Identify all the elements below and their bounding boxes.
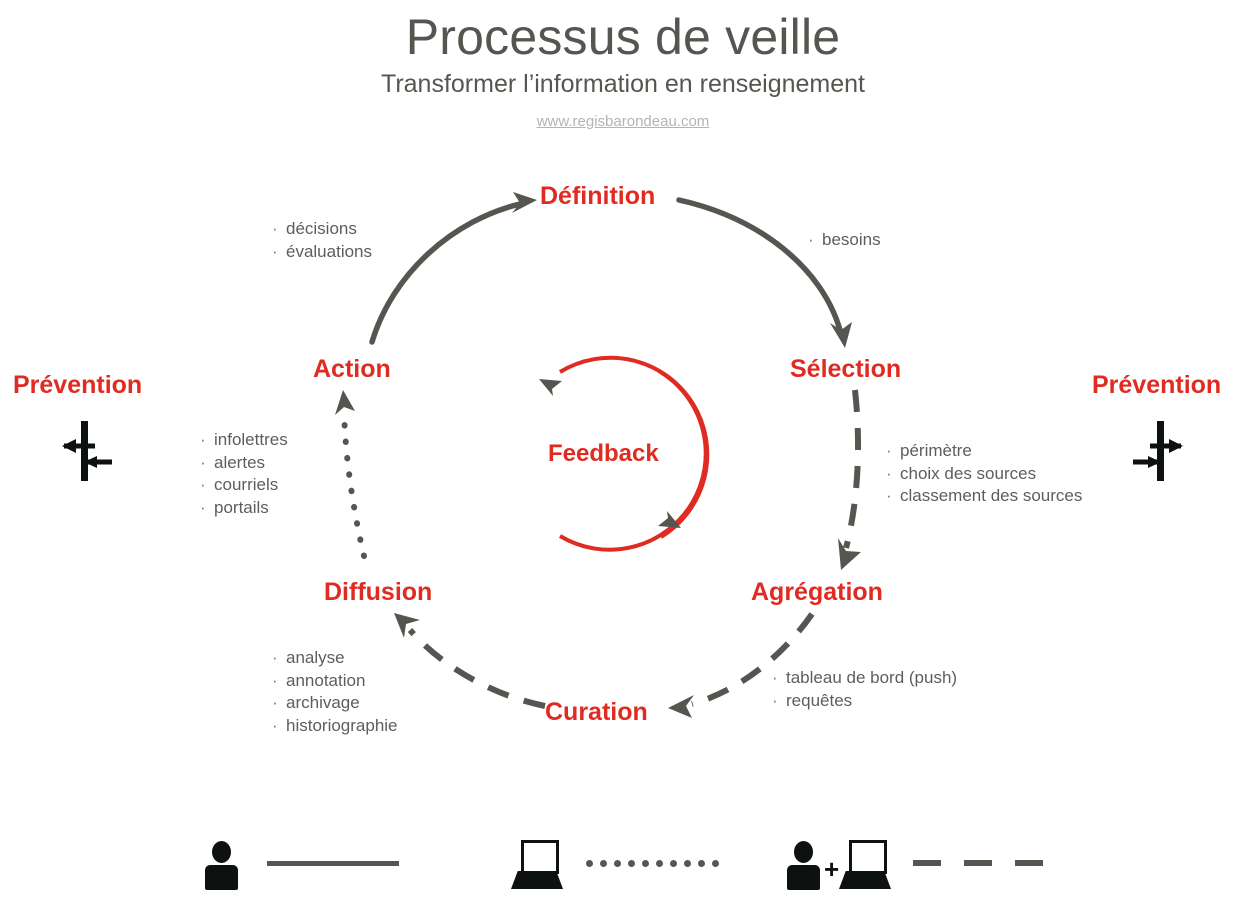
page-subtitle: Transformer l’information en renseigneme… xyxy=(0,69,1246,99)
legend-line-dashed xyxy=(913,860,1033,866)
bullet-text: analyse xyxy=(286,648,345,667)
prevention-left-icon xyxy=(62,421,112,481)
bullet-text: décisions xyxy=(286,219,357,238)
bullet-dot: · xyxy=(272,715,286,738)
bullet-text: alertes xyxy=(214,453,265,472)
bullet-dot: · xyxy=(272,647,286,670)
bullet-dot: · xyxy=(200,474,214,497)
legend-line-solid xyxy=(267,861,399,866)
bullet-text: annotation xyxy=(286,671,365,690)
stage-label-agregation[interactable]: Agrégation xyxy=(751,580,883,605)
bullet-text: courriels xyxy=(214,475,278,494)
site-url-link[interactable]: www.regisbarondeau.com xyxy=(537,113,710,130)
bullet-dot: · xyxy=(272,218,286,241)
bullets-curation: ·analyse ·annotation ·archivage ·histori… xyxy=(272,647,398,737)
arrow-curation-to-diffusion xyxy=(394,613,545,706)
stage-label-action[interactable]: Action xyxy=(313,357,391,382)
arrow-definition-to-selection xyxy=(679,200,852,348)
bullet-dot: · xyxy=(772,690,786,713)
laptop-icon xyxy=(521,840,559,874)
stage-label-definition[interactable]: Définition xyxy=(540,184,655,209)
prevention-right-icon xyxy=(1133,421,1183,481)
laptop-base-icon xyxy=(511,871,563,889)
bullet-dot: · xyxy=(772,667,786,690)
legend-line-dotted xyxy=(586,860,716,867)
person-body-icon xyxy=(205,865,238,890)
laptop-icon xyxy=(849,840,887,874)
bullet-text: portails xyxy=(214,498,269,517)
person-icon xyxy=(794,841,813,863)
bullet-text: requêtes xyxy=(786,691,852,710)
bullet-text: archivage xyxy=(286,693,360,712)
bullet-dot: · xyxy=(272,692,286,715)
laptop-base-icon xyxy=(839,871,891,889)
bullet-dot: · xyxy=(886,485,900,508)
stage-label-selection[interactable]: Sélection xyxy=(790,357,901,382)
person-body-icon xyxy=(787,865,820,890)
bullet-dot: · xyxy=(808,229,822,252)
stage-label-diffusion[interactable]: Diffusion xyxy=(324,580,432,605)
bullets-selection: ·périmètre ·choix des sources ·classemen… xyxy=(886,440,1082,508)
arrow-diffusion-to-action xyxy=(335,390,364,556)
bullet-text: tableau de bord (push) xyxy=(786,668,957,687)
header: Processus de veille Transformer l’inform… xyxy=(0,0,1246,131)
bullets-definition: ·besoins xyxy=(808,229,881,252)
bullet-dot: · xyxy=(886,440,900,463)
bullet-dot: · xyxy=(886,463,900,486)
prevention-label-right: Prévention xyxy=(1092,373,1221,398)
bullet-text: choix des sources xyxy=(900,464,1036,483)
bullet-dot: · xyxy=(272,241,286,264)
plus-icon: + xyxy=(824,856,839,882)
legend: + xyxy=(0,836,1246,891)
bullet-text: historiographie xyxy=(286,716,398,735)
person-icon xyxy=(212,841,231,863)
bullet-dot: · xyxy=(200,452,214,475)
arrow-action-to-definition xyxy=(372,192,537,342)
bullets-action: ·décisions ·évaluations xyxy=(272,218,372,263)
bullet-dot: · xyxy=(272,670,286,693)
arrow-selection-to-agregation xyxy=(838,390,861,570)
bullets-agregation: ·tableau de bord (push) ·requêtes xyxy=(772,667,957,712)
bullet-text: besoins xyxy=(822,230,881,249)
bullet-text: périmètre xyxy=(900,441,972,460)
feedback-label: Feedback xyxy=(548,442,659,466)
bullets-diffusion: ·infolettres ·alertes ·courriels ·portai… xyxy=(200,429,288,519)
bullet-dot: · xyxy=(200,497,214,520)
bullet-text: classement des sources xyxy=(900,486,1082,505)
stage-label-curation[interactable]: Curation xyxy=(545,700,648,725)
prevention-label-left: Prévention xyxy=(13,373,142,398)
bullet-text: évaluations xyxy=(286,242,372,261)
diagram-canvas: Processus de veille Transformer l’inform… xyxy=(0,0,1246,899)
bullet-dot: · xyxy=(200,429,214,452)
page-title: Processus de veille xyxy=(0,10,1246,65)
bullet-text: infolettres xyxy=(214,430,288,449)
